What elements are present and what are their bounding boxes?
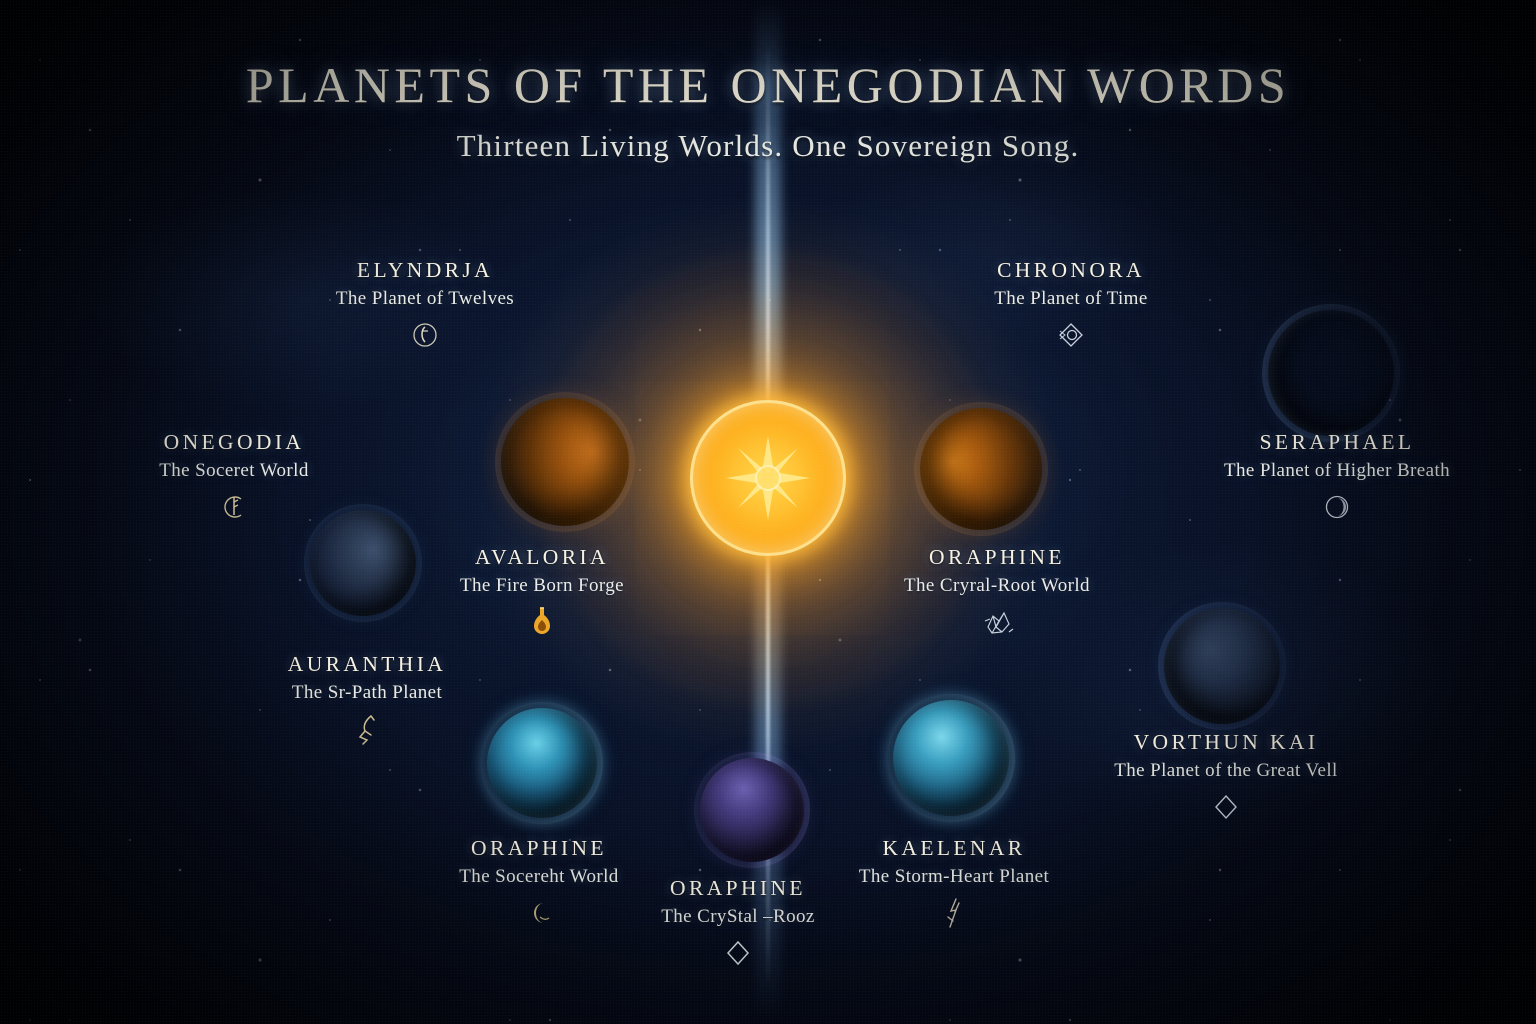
planet-body-slate-right-top (1268, 310, 1394, 436)
planet-label-auranthia[interactable]: AURANTHIA The Sr-Path Planet (187, 652, 547, 744)
planet-name: KAELENAR (774, 836, 1134, 861)
planet-descriptor: The Planet of Time (891, 288, 1251, 310)
planet-icon-slot (1046, 792, 1406, 822)
planet-icon-slot (817, 607, 1177, 637)
planet-icon-slot (187, 714, 547, 744)
circle-key-icon (221, 493, 247, 521)
diamond-outline-icon (1213, 793, 1239, 821)
diamond-outline-icon (725, 939, 751, 967)
central-sun[interactable] (690, 400, 846, 556)
planet-icon-slot (891, 320, 1251, 350)
planet-descriptor: The Soceret World (54, 460, 414, 482)
sun-body (690, 400, 846, 556)
branch-rune-icon (354, 713, 380, 745)
planet-name: ONEGODIA (54, 430, 414, 455)
planet-icon-slot (54, 492, 414, 522)
planet-icon-slot (558, 938, 918, 968)
planet-name: CHRONORA (891, 258, 1251, 283)
planet-label-avaloria[interactable]: AVALORIA The Fire Born Forge (362, 545, 722, 637)
planet-name: ORAPHINE (817, 545, 1177, 570)
planet-label-vorthun-kai[interactable]: VORTHUN KAI The Planet of the Great Vell (1046, 730, 1406, 822)
planet-label-elyndrja[interactable]: ELYNDRJA The Planet of Twelves (245, 258, 605, 350)
planet-label-oraphine-crystal-rooz[interactable]: ORAPHINE The CryStal –Rooz (558, 876, 918, 968)
planet-descriptor: The Planet of Twelves (245, 288, 605, 310)
planet-name: ORAPHINE (558, 876, 918, 901)
planet-body-cyan-right (893, 700, 1009, 816)
planet-name: AURANTHIA (187, 652, 547, 677)
planet-descriptor: The Fire Born Forge (362, 575, 722, 597)
planet-descriptor: The Cryral-Root World (817, 575, 1177, 597)
planet-descriptor: The Planet of Higher Breath (1157, 460, 1517, 482)
planet-label-oraphine-cryral-root[interactable]: ORAPHINE The Cryral-Root World (817, 545, 1177, 637)
planet-icon-slot (362, 607, 722, 637)
lightning-bolt-icon (943, 897, 965, 929)
crescent-moon-icon (527, 900, 551, 926)
planet-body-slate-right-lower (1164, 608, 1280, 724)
planet-label-onegodia[interactable]: ONEGODIA The Soceret World (54, 430, 414, 522)
diamond-eye-icon (1056, 321, 1086, 349)
planet-descriptor: The Planet of the Great Vell (1046, 760, 1406, 782)
planet-name: ORAPHINE (359, 836, 719, 861)
planet-name: AVALORIA (362, 545, 722, 570)
page-subtitle: Thirteen Living Worlds. One Sovereign So… (0, 128, 1536, 164)
crescent-circle-icon (1324, 494, 1350, 520)
flame-vial-icon (532, 606, 552, 638)
circle-sigil-icon (412, 322, 438, 348)
planet-name: VORTHUN KAI (1046, 730, 1406, 755)
poster-canvas: PLANETS OF THE ONEGODIAN WORDS Thirteen … (0, 0, 1536, 1024)
planet-name: SERAPHAEL (1157, 430, 1517, 455)
planet-descriptor: The Sr-Path Planet (187, 682, 547, 704)
planet-label-seraphael[interactable]: SERAPHAEL The Planet of Higher Breath (1157, 430, 1517, 522)
crystal-cluster-icon (980, 607, 1014, 637)
planet-label-chronora[interactable]: CHRONORA The Planet of Time (891, 258, 1251, 350)
planet-descriptor: The CryStal –Rooz (558, 906, 918, 928)
page-title: PLANETS OF THE ONEGODIAN WORDS (0, 56, 1536, 114)
planet-icon-slot (1157, 492, 1517, 522)
planet-name: ELYNDRJA (245, 258, 605, 283)
planet-icon-slot (245, 320, 605, 350)
eight-pointed-star-icon (722, 432, 814, 524)
